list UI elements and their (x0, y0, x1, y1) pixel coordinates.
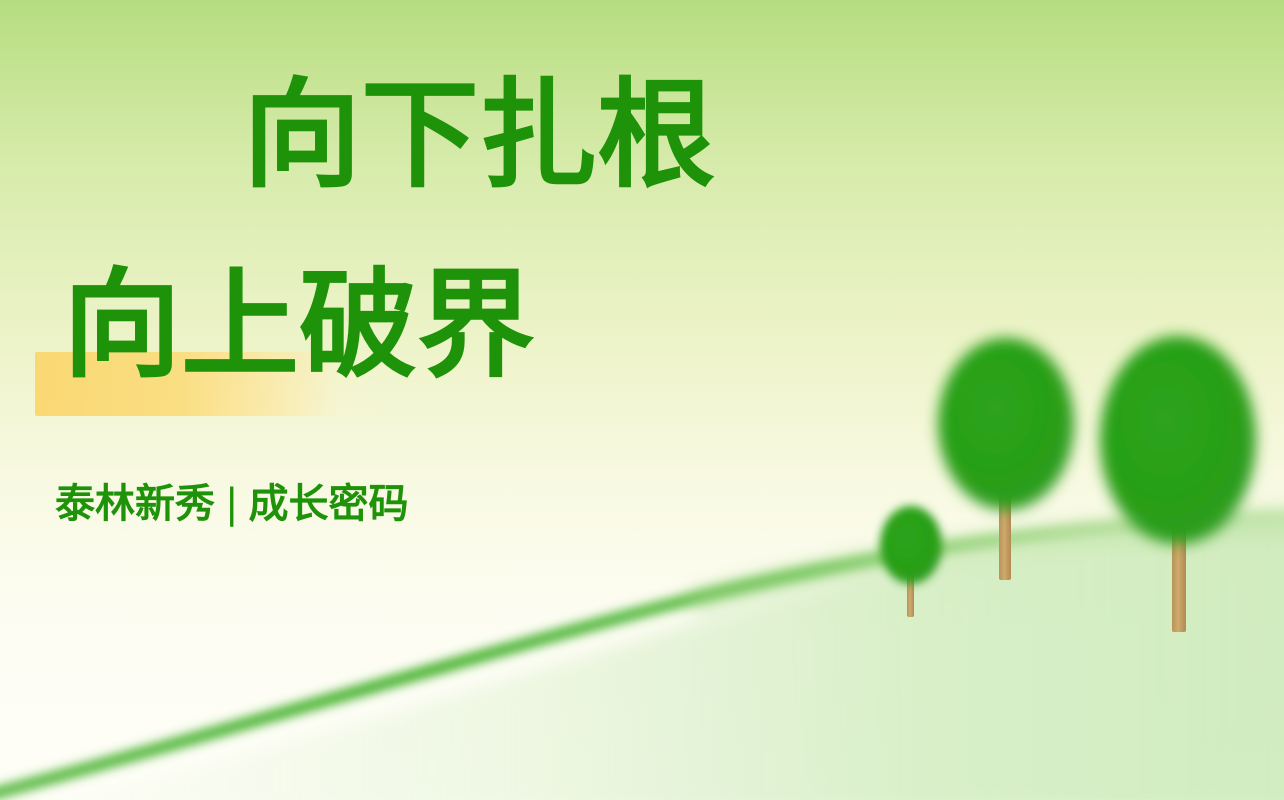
large-tree-crown (1100, 336, 1256, 544)
subtitle: 泰林新秀|成长密码 (55, 480, 408, 528)
medium-tree (938, 338, 1074, 580)
large-tree-trunk (1172, 500, 1186, 632)
large-tree (1100, 336, 1256, 632)
subtitle-right: 成长密码 (248, 481, 408, 527)
medium-tree-crown (938, 338, 1074, 510)
headline-line-1: 向下扎根 (243, 76, 715, 194)
headline-line-2: 向上破界 (63, 266, 535, 384)
presentation-slide: 向下扎根 向上破界 泰林新秀|成长密码 (0, 0, 1284, 800)
small-tree (880, 506, 942, 617)
headline-block: 向下扎根 向上破界 泰林新秀|成长密码 (0, 0, 820, 600)
subtitle-separator: | (215, 481, 248, 527)
medium-tree-trunk (999, 482, 1011, 580)
small-tree-trunk (907, 555, 914, 617)
small-tree-crown (880, 506, 942, 584)
subtitle-left: 泰林新秀 (55, 481, 215, 527)
